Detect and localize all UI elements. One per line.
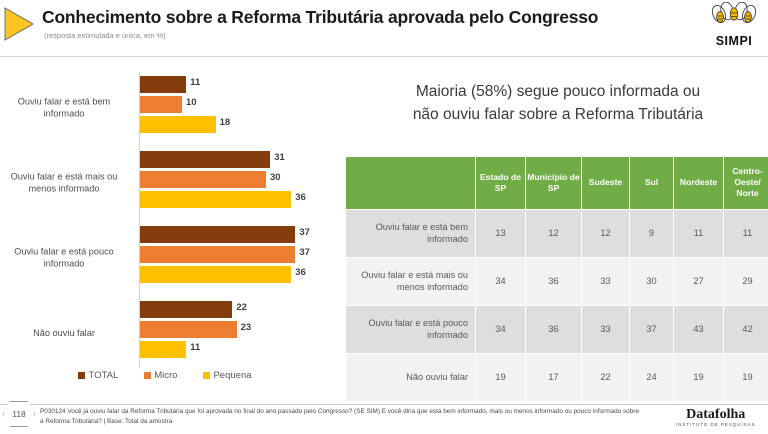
table-column-header: Centro-Oeste/ Norte <box>724 157 768 209</box>
chart-category-row: Ouviu falar e está bem informado111018 <box>0 70 330 145</box>
page-subtitle: (resposta estimulada e única, em %) <box>44 31 166 40</box>
chart-legend-item: Micro <box>144 370 177 381</box>
table-cell-value: 24 <box>630 353 674 401</box>
chart-bar <box>140 171 266 188</box>
chart-legend-swatch <box>144 372 151 379</box>
chart-bar-line: 36 <box>140 191 330 208</box>
table-cell-value: 27 <box>674 257 724 305</box>
table-row-label: Ouviu falar e está bem informado <box>346 209 476 257</box>
page-title: Conhecimento sobre a Reforma Tributária … <box>42 7 598 28</box>
chart-bar-line: 22 <box>140 301 330 318</box>
chart-category-rows: Ouviu falar e está bem informado111018Ou… <box>0 70 330 370</box>
footnote-text: P030124 Você já ouviu falar da Reforma T… <box>40 407 640 427</box>
table-header-row: Estado de SPMunicípio de SPSudesteSulNor… <box>346 157 768 209</box>
table-cell-value: 13 <box>476 209 526 257</box>
table-column-header: Estado de SP <box>476 157 526 209</box>
chart-legend-swatch <box>203 372 210 379</box>
chart-bar <box>140 76 186 93</box>
chart-bar-value: 37 <box>299 227 310 238</box>
chart-bar <box>140 321 237 338</box>
table-column-header: Sul <box>630 157 674 209</box>
chart-bar-value: 30 <box>270 172 281 183</box>
chart-category-row: Ouviu falar e está pouco informado373736 <box>0 220 330 295</box>
datafolha-logo: Datafolha INSTITUTO DE PESQUISAS <box>676 408 755 427</box>
table-row-label: Ouviu falar e está pouco informado <box>346 305 476 353</box>
chart-bar <box>140 226 295 243</box>
chart-legend: TOTALMicroPequena <box>0 370 330 381</box>
chart-bar-value: 22 <box>236 302 247 313</box>
header-divider <box>0 56 768 57</box>
insight-headline: Maioria (58%) segue pouco informada ou n… <box>358 80 758 126</box>
chart-bar <box>140 246 295 263</box>
insight-headline-line1: Maioria (58%) segue pouco informada ou <box>358 80 758 103</box>
chart-bar-line: 11 <box>140 76 330 93</box>
table-cell-value: 33 <box>582 305 630 353</box>
chart-category-label: Ouviu falar e está mais ou menos informa… <box>0 170 128 195</box>
table-row: Não ouviu falar191722241919 <box>346 353 768 401</box>
chart-category-label: Ouviu falar e está bem informado <box>0 95 128 120</box>
table-cell-value: 33 <box>582 257 630 305</box>
table-cell-value: 43 <box>674 305 724 353</box>
simpi-wordmark: SIMPI <box>706 35 762 47</box>
table-cell-value: 19 <box>724 353 768 401</box>
chart-bar <box>140 191 291 208</box>
chart-category-label: Ouviu falar e está pouco informado <box>0 245 128 270</box>
table-row-label: Não ouviu falar <box>346 353 476 401</box>
chart-bar-line: 36 <box>140 266 330 283</box>
slide-root: Conhecimento sobre a Reforma Tributária … <box>0 0 768 434</box>
table-cell-value: 34 <box>476 305 526 353</box>
table-column-header: Município de SP <box>526 157 582 209</box>
chart-legend-item: TOTAL <box>78 370 118 381</box>
chart-bar-line: 37 <box>140 226 330 243</box>
chart-legend-item: Pequena <box>203 370 251 381</box>
table-cell-value: 11 <box>674 209 724 257</box>
table-row: Ouviu falar e está pouco informado343633… <box>346 305 768 353</box>
table-cell-value: 9 <box>630 209 674 257</box>
table-cell-value: 12 <box>582 209 630 257</box>
table-cell-value: 19 <box>674 353 724 401</box>
chart-bar-value: 36 <box>295 267 306 278</box>
table-column-header: Sudeste <box>582 157 630 209</box>
chart-bar-group: 222311 <box>140 301 330 361</box>
table-body: Ouviu falar e está bem informado13121291… <box>346 209 768 401</box>
table-cell-value: 30 <box>630 257 674 305</box>
chart-bar-line: 23 <box>140 321 330 338</box>
table-cell-value: 34 <box>476 257 526 305</box>
chart-bar-line: 18 <box>140 116 330 133</box>
chart-bar-group: 313036 <box>140 151 330 211</box>
chart-legend-label: Micro <box>154 370 177 381</box>
chart-bar-line: 11 <box>140 341 330 358</box>
table-row: Ouviu falar e está bem informado13121291… <box>346 209 768 257</box>
bar-chart: Ouviu falar e está bem informado111018Ou… <box>0 70 330 390</box>
regional-breakdown-table: Estado de SPMunicípio de SPSudesteSulNor… <box>345 157 763 402</box>
chart-bar-line: 30 <box>140 171 330 188</box>
table-column-header: Nordeste <box>674 157 724 209</box>
chart-category-row: Não ouviu falar222311 <box>0 295 330 370</box>
chart-bar-value: 11 <box>190 342 200 353</box>
chart-bar-value: 18 <box>220 117 231 128</box>
table-corner-cell <box>346 157 476 209</box>
footer-divider <box>0 404 768 405</box>
chart-bar-value: 11 <box>190 77 200 88</box>
table-cell-value: 36 <box>526 257 582 305</box>
table-cell-value: 42 <box>724 305 768 353</box>
chart-legend-label: TOTAL <box>88 370 118 381</box>
table-cell-value: 12 <box>526 209 582 257</box>
chart-bar-value: 31 <box>274 152 285 163</box>
simpi-logo: SIMPI <box>706 2 762 46</box>
insight-headline-line2: não ouviu falar sobre a Reforma Tributár… <box>358 103 758 126</box>
chart-bar-value: 37 <box>299 247 310 258</box>
table-cell-value: 22 <box>582 353 630 401</box>
chart-category-label: Não ouviu falar <box>0 326 128 339</box>
chart-bar-value: 10 <box>186 97 197 108</box>
table-cell-value: 36 <box>526 305 582 353</box>
chart-bar-value: 23 <box>241 322 252 333</box>
chart-bar-value: 36 <box>295 192 306 203</box>
table-cell-value: 37 <box>630 305 674 353</box>
bees-icon <box>706 2 762 30</box>
datafolha-tagline: INSTITUTO DE PESQUISAS <box>676 422 755 427</box>
play-triangle-icon <box>2 6 36 42</box>
chart-bar-group: 111018 <box>140 76 330 136</box>
chart-bar-line: 37 <box>140 246 330 263</box>
chart-legend-swatch <box>78 372 85 379</box>
table-cell-value: 17 <box>526 353 582 401</box>
chart-legend-label: Pequena <box>213 370 251 381</box>
chart-bar-line: 10 <box>140 96 330 113</box>
table-row: Ouviu falar e está mais ou menos informa… <box>346 257 768 305</box>
table-cell-value: 29 <box>724 257 768 305</box>
chart-bar-line: 31 <box>140 151 330 168</box>
datafolha-name: Datafolha <box>676 408 755 422</box>
chart-bar <box>140 116 216 133</box>
table-cell-value: 19 <box>476 353 526 401</box>
chart-bar <box>140 341 186 358</box>
chart-bar-group: 373736 <box>140 226 330 286</box>
table-cell-value: 11 <box>724 209 768 257</box>
chart-bar <box>140 151 270 168</box>
chart-bar <box>140 96 182 113</box>
chart-bar <box>140 301 232 318</box>
slide-header: Conhecimento sobre a Reforma Tributária … <box>0 0 768 56</box>
chart-category-row: Ouviu falar e está mais ou menos informa… <box>0 145 330 220</box>
chart-bar <box>140 266 291 283</box>
table-row-label: Ouviu falar e está mais ou menos informa… <box>346 257 476 305</box>
